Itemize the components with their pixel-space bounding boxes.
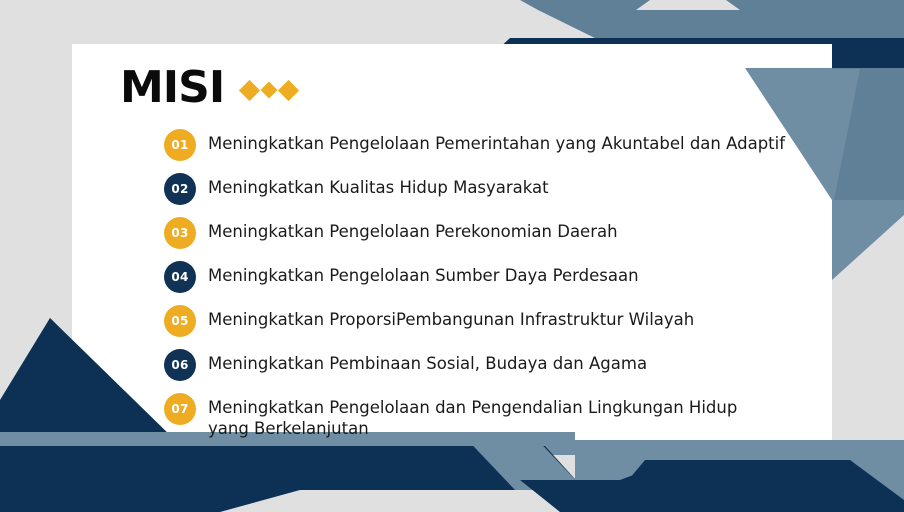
- mission-text: Meningkatkan Pembinaan Sosial, Budaya da…: [208, 348, 647, 374]
- status-badge: 02: [164, 173, 196, 205]
- list-item: 07 Meningkatkan Pengelolaan dan Pengenda…: [164, 392, 824, 439]
- list-item: 02 Meningkatkan Kualitas Hidup Masyaraka…: [164, 172, 824, 205]
- status-badge: 04: [164, 261, 196, 293]
- list-item: 06 Meningkatkan Pembinaan Sosial, Budaya…: [164, 348, 824, 381]
- diamond-icon-1: [239, 79, 260, 100]
- list-item: 05 Meningkatkan ProporsiPembangunan Infr…: [164, 304, 824, 337]
- mission-text: Meningkatkan Pengelolaan Pemerintahan ya…: [208, 128, 785, 154]
- mission-text: Meningkatkan Pengelolaan Perekonomian Da…: [208, 216, 618, 242]
- list-item: 03 Meningkatkan Pengelolaan Perekonomian…: [164, 216, 824, 249]
- mission-list: 01 Meningkatkan Pengelolaan Pemerintahan…: [164, 128, 824, 450]
- page-title: MISI: [120, 66, 224, 110]
- mission-text: Meningkatkan Pengelolaan Sumber Daya Per…: [208, 260, 639, 286]
- title-diamond-decoration: [242, 83, 301, 98]
- status-badge: 05: [164, 305, 196, 337]
- presentation-slide: MISI 01 Meningkatkan Pengelolaan Pemerin…: [0, 0, 904, 512]
- diamond-icon-3: [278, 79, 299, 100]
- status-badge: 06: [164, 349, 196, 381]
- status-badge: 07: [164, 393, 196, 425]
- list-item: 04 Meningkatkan Pengelolaan Sumber Daya …: [164, 260, 824, 293]
- status-badge: 03: [164, 217, 196, 249]
- diamond-icon-2: [261, 82, 278, 99]
- list-item: 01 Meningkatkan Pengelolaan Pemerintahan…: [164, 128, 824, 161]
- mission-text: Meningkatkan ProporsiPembangunan Infrast…: [208, 304, 694, 330]
- mission-text: Meningkatkan Pengelolaan dan Pengendalia…: [208, 392, 737, 439]
- slide-content: MISI 01 Meningkatkan Pengelolaan Pemerin…: [72, 44, 832, 440]
- mission-text: Meningkatkan Kualitas Hidup Masyarakat: [208, 172, 549, 198]
- status-badge: 01: [164, 129, 196, 161]
- slide-title-row: MISI: [120, 66, 301, 110]
